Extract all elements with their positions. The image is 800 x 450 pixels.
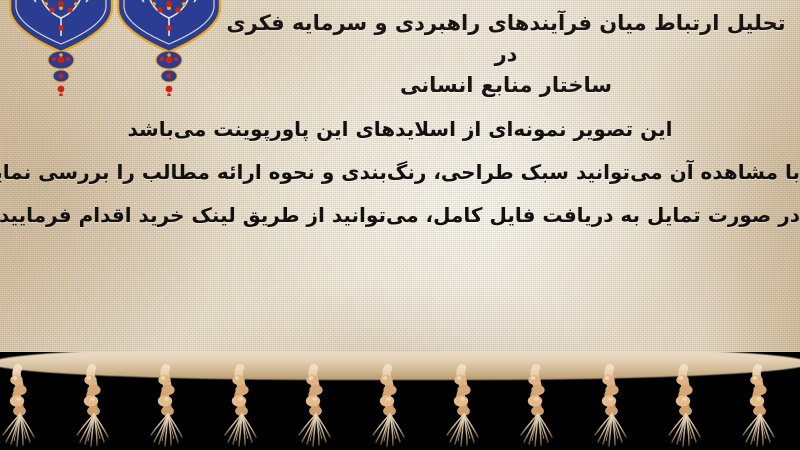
slide-text-layer: تحلیل ارتباط میان فرآیندهای راهبردی و سر… (0, 0, 800, 378)
slide-title-line-1: تحلیل ارتباط میان فرآیندهای راهبردی و سر… (226, 8, 786, 70)
fringe-tassels (0, 352, 800, 450)
carpet-fringe-region (0, 352, 800, 450)
body-line-2: با مشاهده آن می‌توانید سبک طراحی، رنگ‌بن… (0, 151, 800, 194)
slide-body: این تصویر نمونه‌ای از اسلایدهای این پاور… (0, 108, 800, 237)
slide-title-line-2: ساختار منابع انسانی (226, 70, 786, 101)
body-line-3: در صورت تمایل به دریافت فایل کامل، می‌تو… (0, 194, 800, 237)
slide-canvas: تحلیل ارتباط میان فرآیندهای راهبردی و سر… (0, 0, 800, 450)
body-line-1: این تصویر نمونه‌ای از اسلایدهای این پاور… (0, 108, 800, 151)
slide-title: تحلیل ارتباط میان فرآیندهای راهبردی و سر… (226, 8, 786, 101)
